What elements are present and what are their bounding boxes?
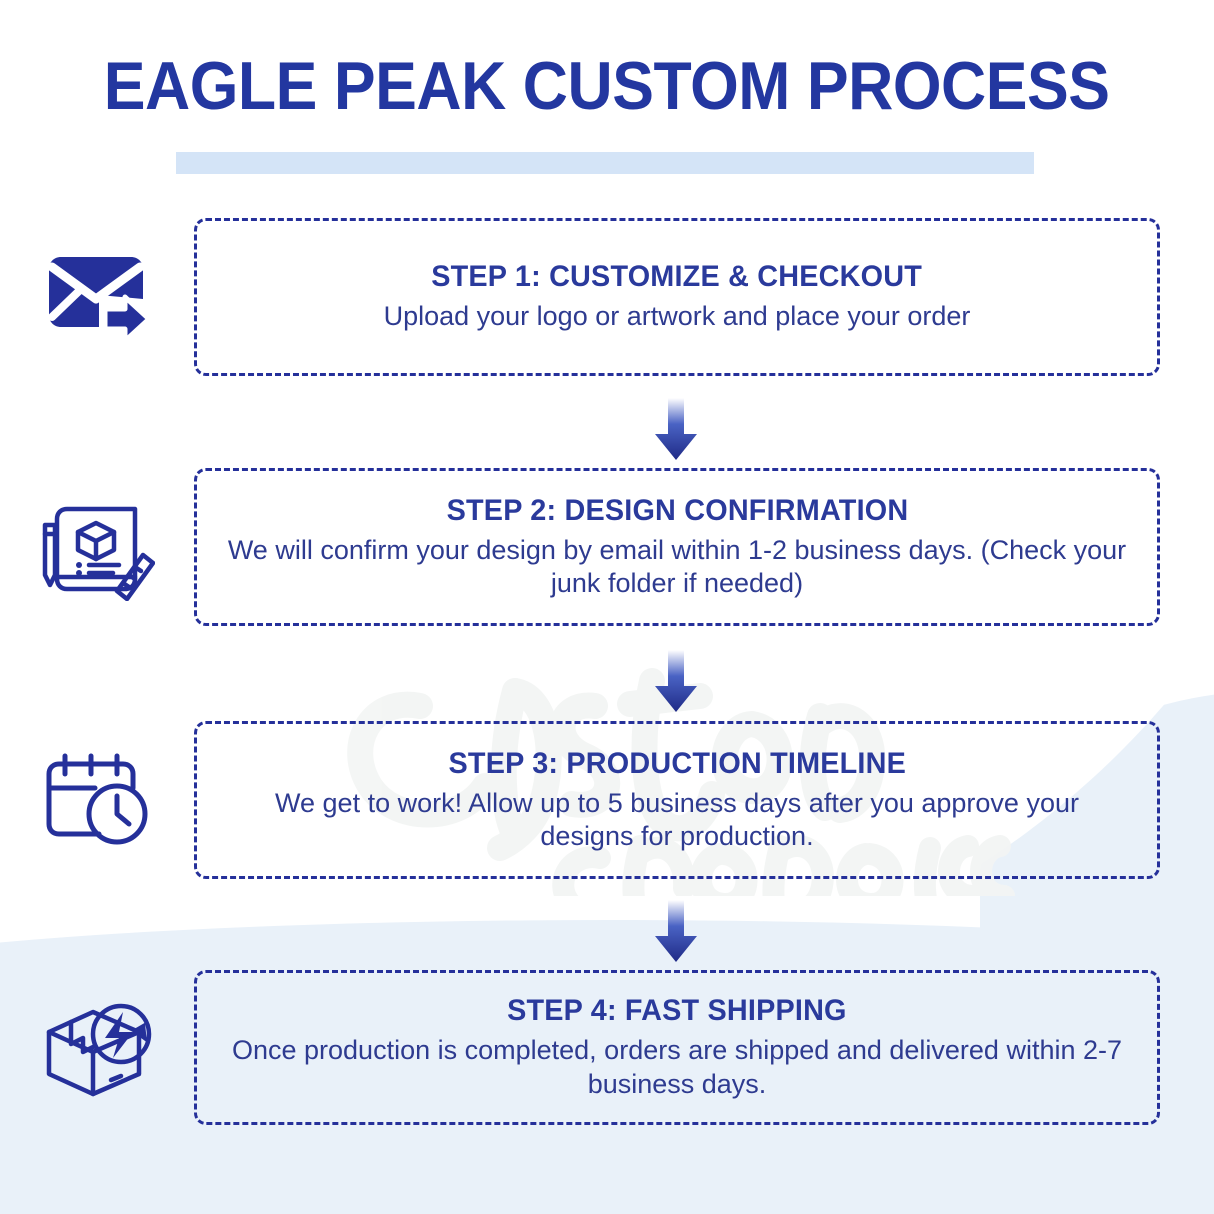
step-4-icon-cell	[0, 994, 194, 1102]
step-row-2: STEP 2: DESIGN CONFIRMATION We will conf…	[0, 468, 1214, 626]
step-1-icon-cell	[0, 247, 194, 347]
step-1-box: STEP 1: CUSTOMIZE & CHECKOUT Upload your…	[194, 218, 1160, 376]
arrow-step1-to-step2	[645, 398, 707, 460]
step-2-description: We will confirm your design by email wit…	[227, 534, 1127, 601]
step-2-title: STEP 2: DESIGN CONFIRMATION	[446, 494, 908, 528]
step-3-icon-cell	[0, 748, 194, 852]
shipping-box-fast-icon	[37, 994, 157, 1102]
step-4-title: STEP 4: FAST SHIPPING	[507, 994, 847, 1028]
step-4-box: STEP 4: FAST SHIPPING Once production is…	[194, 970, 1160, 1125]
step-row-4: STEP 4: FAST SHIPPING Once production is…	[0, 970, 1214, 1125]
step-2-box: STEP 2: DESIGN CONFIRMATION We will conf…	[194, 468, 1160, 626]
step-1-title: STEP 1: CUSTOMIZE & CHECKOUT	[432, 260, 923, 294]
design-blueprint-icon	[39, 493, 155, 601]
step-3-description: We get to work! Allow up to 5 business d…	[227, 787, 1127, 854]
arrow-step3-to-step4	[645, 900, 707, 962]
step-2-icon-cell	[0, 493, 194, 601]
steps-flow: STEP 1: CUSTOMIZE & CHECKOUT Upload your…	[0, 0, 1214, 1214]
arrow-step2-to-step3	[645, 650, 707, 712]
calendar-clock-icon	[39, 748, 155, 852]
step-4-description: Once production is completed, orders are…	[227, 1034, 1127, 1101]
step-row-3: STEP 3: PRODUCTION TIMELINE We get to wo…	[0, 721, 1214, 879]
envelope-forward-icon	[39, 247, 155, 347]
infographic-page: EAGLE PEAK CUSTOM PROCESS STEP 1: CUSTOM…	[0, 0, 1214, 1214]
step-1-description: Upload your logo or artwork and place yo…	[384, 300, 971, 333]
step-3-box: STEP 3: PRODUCTION TIMELINE We get to wo…	[194, 721, 1160, 879]
step-row-1: STEP 1: CUSTOMIZE & CHECKOUT Upload your…	[0, 218, 1214, 376]
step-3-title: STEP 3: PRODUCTION TIMELINE	[448, 747, 906, 781]
